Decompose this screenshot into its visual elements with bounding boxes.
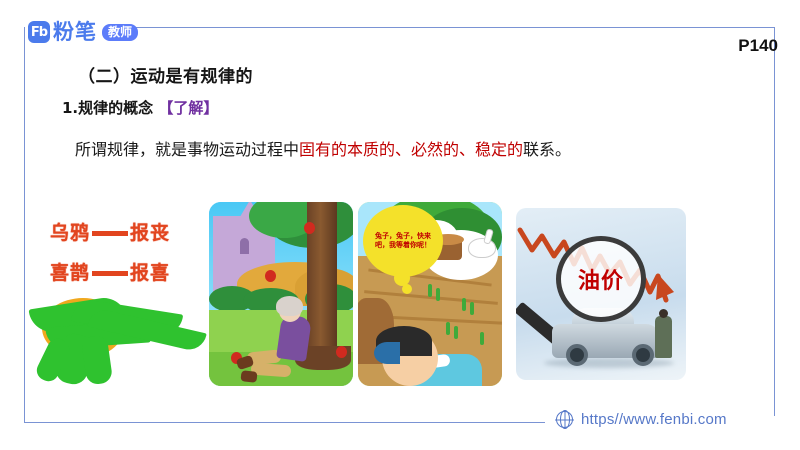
castle-window [240,238,249,254]
crow-result: 报丧 [130,222,170,244]
apple-icon [265,270,276,282]
subsection-title: 1.规律的概念 [62,99,153,117]
illustration-crow-magpie: 乌鸦报丧 喜鹊报喜 [36,202,206,387]
brand-badge: 教师 [102,24,138,41]
subsection-tag: 【了解】 [158,99,218,117]
magpie-result: 报喜 [130,262,170,284]
newton-boot [240,370,257,383]
car-wheel [632,344,654,366]
crow-label: 乌鸦 [50,222,90,244]
newton-coat [276,314,312,362]
illustration-newton-apple-tree [209,202,353,386]
magpie-line: 喜鹊报喜 [50,258,170,285]
person-head [659,309,668,318]
castle-spire [215,220,231,234]
grass-sprout [454,326,458,339]
section-title: （二）运动是有规律的 [78,62,253,87]
footer-url[interactable]: https//www.fenbi.com [581,411,727,428]
grass-sprout [480,332,484,345]
definition-highlight: 固有的本质的、必然的、稳定的 [299,140,523,159]
apple-icon [304,222,315,234]
illustration-row: 乌鸦报丧 喜鹊报喜 [36,202,766,387]
boy-cap [374,342,400,364]
grass-sprout [446,322,450,335]
brand-name: 粉笔 [53,22,97,43]
ground-shadow [544,358,674,368]
newton-wig [276,296,303,316]
brand-logo: Fb 粉笔 教师 [28,19,138,45]
speech-bubble-tail [402,284,412,294]
definition-prefix: 所谓规律，就是事物运动过程中 [75,140,299,159]
arrow-dash-icon [92,271,128,276]
oil-price-label: 油价 [578,263,624,295]
definition-paragraph: 所谓规律，就是事物运动过程中固有的本质的、必然的、稳定的联系。 [75,136,571,160]
grass-sprout [462,298,466,311]
grass-sprout [428,284,432,297]
slide-canvas: Fb 粉笔 教师 P140 （二）运动是有规律的 1.规律的概念 【了解】 所谓… [0,0,800,450]
speech-bubble-text: 兔子，兔子，快来吧，我等着你呢！ [373,232,433,250]
magpie-label: 喜鹊 [50,262,90,284]
slide-frame-top-line [133,27,775,28]
crow-line: 乌鸦报丧 [50,218,170,245]
rabbit-icon [468,238,496,258]
grass-sprout [470,302,474,315]
page-number: P140 [738,36,778,56]
fenbi-logo-mark-text: Fb [31,26,47,39]
speech-bubble: 兔子，兔子，快来吧，我等着你呢！ [366,208,440,274]
grass-sprout [436,288,440,301]
oil-price-scene: 油价 [516,208,686,380]
apple-icon [336,346,347,358]
fenbi-logo-icon: Fb [28,21,50,43]
arrow-dash-icon [92,231,128,236]
definition-suffix: 联系。 [523,140,571,159]
illustration-oil-price: 油价 [508,202,694,386]
person-figure [655,316,672,358]
illustration-waiting-for-rabbit: 兔子，兔子，快来吧，我等着你呢！ [358,202,502,386]
globe-icon [556,411,573,428]
subsection-heading: 1.规律的概念 【了解】 [62,97,218,118]
footer: https//www.fenbi.com [556,411,727,428]
magnifier-lens: 油价 [556,236,646,322]
car-wheel [566,344,588,366]
